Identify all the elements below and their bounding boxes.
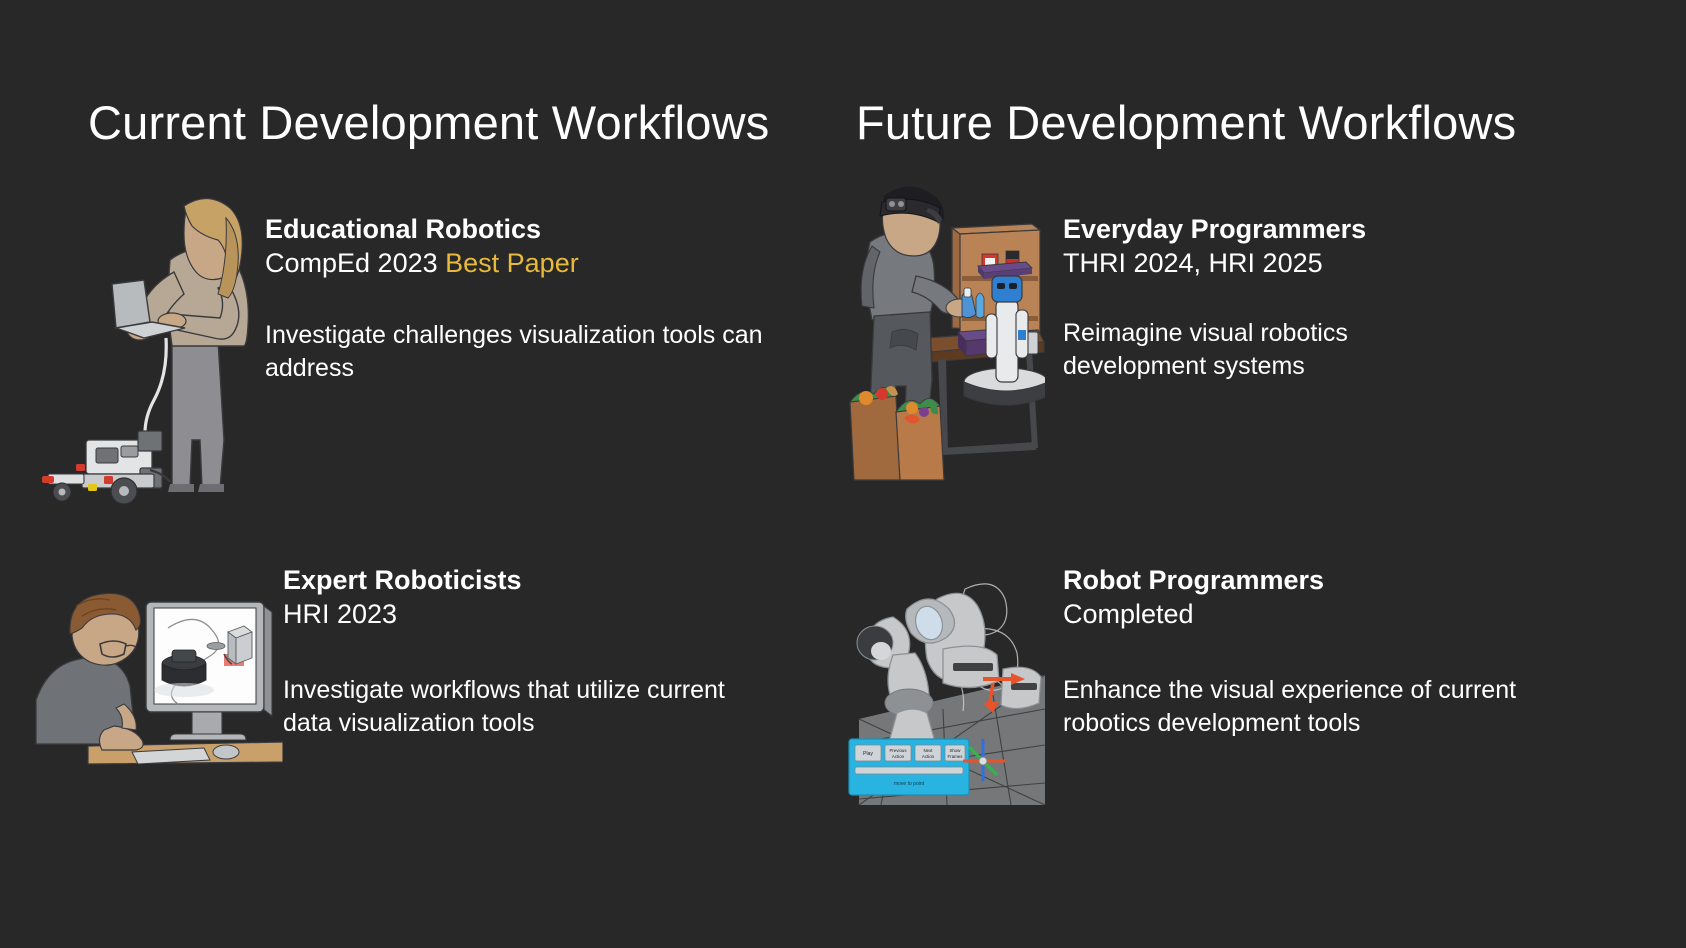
award-badge-best-paper: Best Paper — [445, 248, 579, 278]
sim-timeline-bar — [855, 767, 963, 774]
text-block-robot-programmers: Robot Programmers Completed Enhance the … — [1063, 564, 1563, 740]
svg-text:Frames: Frames — [948, 754, 964, 759]
text-block-expert-roboticists: Expert Roboticists HRI 2023 Investigate … — [283, 564, 753, 740]
illustration-person-with-ar-headset-and-mobile-robot — [800, 180, 1045, 485]
sim-button-show-frames: Show — [950, 748, 962, 753]
text-block-educational-robotics: Educational Robotics CompEd 2023 Best Pa… — [265, 213, 765, 385]
illustration-robot-arm-simulation: Play Previous Action Next Action Show Fr… — [797, 533, 1045, 805]
block-title-everyday-programmers: Everyday Programmers — [1063, 213, 1463, 246]
block-description-expert-roboticists: Investigate workflows that utilize curre… — [283, 674, 753, 740]
venue-text: CompEd 2023 — [265, 248, 445, 278]
svg-text:Action: Action — [922, 754, 935, 759]
block-title-expert-roboticists: Expert Roboticists — [283, 564, 753, 597]
sim-button-previous-action: Previous — [889, 748, 907, 753]
svg-text:Action: Action — [892, 754, 905, 759]
sim-panel-buttons: Play Previous Action Next Action Show Fr… — [855, 745, 965, 761]
block-description-educational-robotics: Investigate challenges visualization too… — [265, 319, 765, 385]
page-title-future: Future Development Workflows — [856, 95, 1516, 150]
block-venue-expert-roboticists: HRI 2023 — [283, 597, 753, 632]
page-title-current: Current Development Workflows — [88, 95, 769, 150]
block-title-educational-robotics: Educational Robotics — [265, 213, 765, 246]
block-description-robot-programmers: Enhance the visual experience of current… — [1063, 674, 1563, 740]
block-description-everyday-programmers: Reimagine visual robotics development sy… — [1063, 317, 1463, 383]
block-venue-everyday-programmers: THRI 2024, HRI 2025 — [1063, 246, 1463, 281]
block-title-robot-programmers: Robot Programmers — [1063, 564, 1563, 597]
sim-button-next-action: Next — [923, 748, 933, 753]
block-venue-robot-programmers: Completed — [1063, 597, 1563, 632]
slide-canvas: Current Development Workflows Future Dev… — [0, 0, 1686, 948]
sim-button-play: Play — [863, 751, 873, 757]
illustration-person-at-desktop-monitor — [28, 540, 283, 768]
sim-panel-caption: move to point — [894, 781, 925, 787]
block-venue-educational-robotics: CompEd 2023 Best Paper — [265, 246, 765, 281]
illustration-person-with-laptop-and-lego-robot — [20, 188, 265, 508]
text-block-everyday-programmers: Everyday Programmers THRI 2024, HRI 2025… — [1063, 213, 1463, 383]
